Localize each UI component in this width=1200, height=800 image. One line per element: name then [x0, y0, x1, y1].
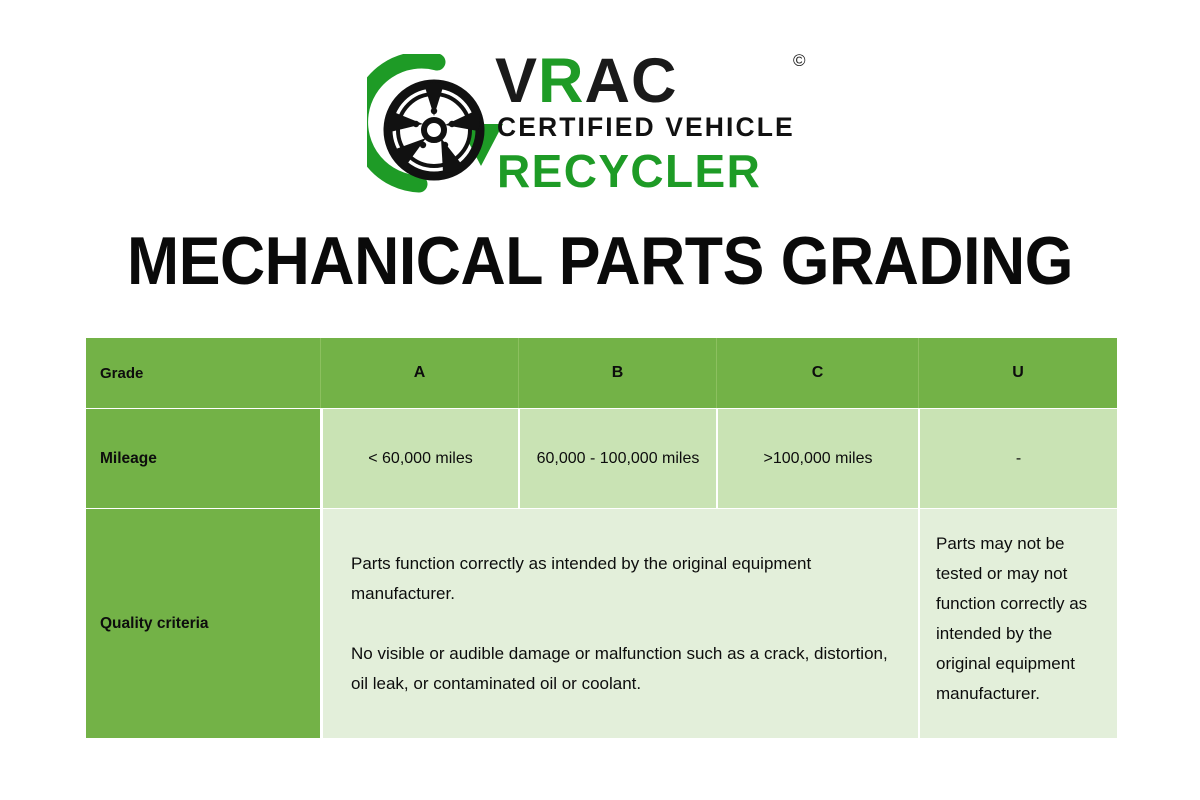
quality-criteria-grades-abc-value: Parts function correctly as intended by …	[320, 509, 918, 738]
logo-letter-v: V	[495, 46, 538, 116]
mileage-grade-u-value: -	[918, 409, 1117, 508]
wheel-rim-recycle-arrow-icon	[367, 54, 513, 200]
column-header-u: U	[918, 338, 1117, 408]
quality-criteria-paragraph-1: Parts function correctly as intended by …	[351, 549, 892, 609]
column-header-c: C	[716, 338, 918, 408]
logo-letter-c: C	[631, 46, 678, 116]
table-row-quality-criteria: Quality criteria Parts function correctl…	[86, 509, 1117, 738]
quality-criteria-grade-u-value: Parts may not be tested or may not funct…	[918, 509, 1117, 738]
column-header-b: B	[518, 338, 716, 408]
quality-criteria-u-text: Parts may not be tested or may not funct…	[936, 529, 1101, 709]
column-header-grade: Grade	[86, 338, 320, 408]
table-header-row: Grade A B C U	[86, 338, 1117, 408]
mechanical-parts-grading-table: Grade A B C U Mileage < 60,000 miles 60,…	[86, 338, 1117, 738]
table-row-mileage: Mileage < 60,000 miles 60,000 - 100,000 …	[86, 409, 1117, 508]
logo-tagline-line2: RECYCLER	[497, 144, 761, 198]
page-title: MECHANICAL PARTS GRADING	[48, 218, 1152, 304]
row-label-quality-criteria: Quality criteria	[86, 509, 320, 738]
logo-brand-wordmark: VRAC	[495, 50, 678, 112]
logo-tagline-line1: CERTIFIED VEHICLE	[497, 111, 795, 143]
mileage-grade-a-value: < 60,000 miles	[320, 409, 518, 508]
column-header-a: A	[320, 338, 518, 408]
mileage-grade-b-value: 60,000 - 100,000 miles	[518, 409, 716, 508]
logo-letter-a: A	[585, 46, 632, 116]
brand-logo: VRAC © CERTIFIED VEHICLE RECYCLER	[0, 48, 1200, 206]
copyright-icon: ©	[793, 52, 806, 69]
mileage-grade-c-value: >100,000 miles	[716, 409, 918, 508]
quality-criteria-paragraph-2: No visible or audible damage or malfunct…	[351, 639, 892, 699]
logo-letter-r: R	[538, 46, 585, 116]
row-label-mileage: Mileage	[86, 409, 320, 508]
